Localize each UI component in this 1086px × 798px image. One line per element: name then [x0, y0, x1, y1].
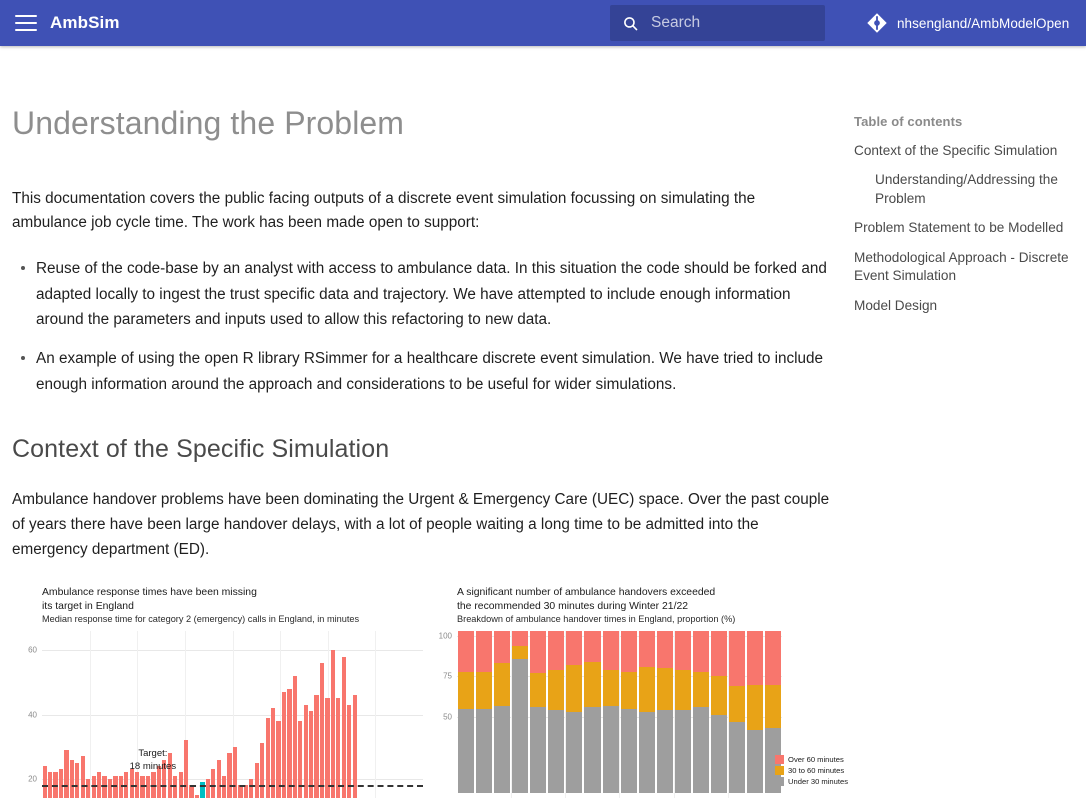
bar-segment: [675, 670, 691, 711]
bar: [331, 650, 335, 798]
target-line: [42, 785, 423, 787]
bar-segment: [476, 672, 492, 709]
stacked-bar: [548, 631, 564, 798]
stacked-bar: [494, 631, 510, 798]
repo-label: nhsengland/AmbModelOpen: [897, 16, 1069, 31]
bar-segment: [621, 631, 637, 672]
bar: [227, 753, 231, 798]
search-icon: [622, 15, 639, 32]
page-title: Understanding the Problem: [12, 103, 830, 145]
bar-segment: [494, 631, 510, 663]
bar-segment: [657, 631, 673, 668]
bar: [336, 698, 340, 798]
stacked-bar: [476, 631, 492, 798]
bar: [157, 766, 161, 798]
chart-handover-breakdown: A significant number of ambulance handov…: [427, 586, 842, 798]
search-input[interactable]: [651, 14, 811, 32]
bar-segment: [621, 672, 637, 709]
git-diamond-icon: [866, 12, 888, 34]
bar: [64, 750, 68, 798]
intro-bullet-list: Reuse of the code-base by an analyst wit…: [12, 256, 830, 397]
bar: [320, 663, 324, 798]
toc-label: Table of contents: [854, 114, 1072, 129]
y-axis-tick: 75: [443, 672, 452, 681]
bar-segment: [494, 663, 510, 705]
bar: [81, 756, 85, 798]
bar-segment: [765, 685, 781, 729]
stacked-bar: [657, 631, 673, 798]
stacked-bar: [458, 631, 474, 798]
chart-subtitle: Breakdown of ambulance handover times in…: [427, 614, 842, 625]
bar-segment: [693, 672, 709, 708]
bar: [233, 747, 237, 798]
bar: [130, 769, 134, 798]
y-axis-tick: 40: [28, 710, 37, 719]
bar-segment: [711, 715, 727, 793]
y-axis-tick: 20: [28, 774, 37, 783]
toc-item-understanding[interactable]: Understanding/Addressing the Problem: [854, 171, 1072, 208]
bar: [217, 760, 221, 798]
stacked-bar: [639, 631, 655, 798]
stacked-bar: [747, 631, 763, 798]
stacked-bar: [512, 631, 528, 798]
stacked-bar: [729, 631, 745, 798]
bar-segment: [530, 707, 546, 793]
stacked-bar: [603, 631, 619, 798]
bar-segment: [639, 631, 655, 667]
bar-segment: [729, 722, 745, 793]
bar: [347, 705, 351, 798]
bar: [260, 743, 264, 798]
bar: [314, 695, 318, 798]
bar-segment: [494, 706, 510, 794]
bar: [282, 692, 286, 798]
bar-segment: [512, 659, 528, 794]
charts-figure: Ambulance response times have been missi…: [12, 586, 842, 798]
bar: [86, 779, 90, 798]
plot-area-left: 204060Target: 18 minutes: [12, 631, 427, 798]
y-axis-tick: 50: [443, 712, 452, 721]
bar-segment: [512, 646, 528, 659]
bar: [43, 766, 47, 798]
bar-segment: [548, 710, 564, 793]
stacked-bar: [675, 631, 691, 798]
legend-swatch: [775, 766, 784, 775]
bar-segment: [566, 631, 582, 665]
bar-segment: [747, 730, 763, 793]
bar-segment: [693, 631, 709, 672]
stacked-bar-series: [457, 631, 782, 798]
bar-segment: [566, 665, 582, 712]
toc-item-methodological-approach[interactable]: Methodological Approach - Discrete Event…: [854, 249, 1072, 286]
bar-segment: [512, 631, 528, 646]
repo-link[interactable]: nhsengland/AmbModelOpen: [866, 0, 1069, 46]
toc-item-model-design[interactable]: Model Design: [854, 297, 1072, 315]
stacked-bar: [621, 631, 637, 798]
bar-segment: [693, 707, 709, 793]
section-title-context: Context of the Specific Simulation: [12, 435, 830, 464]
bar: [287, 689, 291, 798]
bar: [184, 740, 188, 798]
bar-segment: [675, 631, 691, 670]
bar: [75, 763, 79, 798]
bar-segment: [566, 712, 582, 793]
bar: [162, 760, 166, 798]
bar-segment: [476, 709, 492, 793]
bar-segment: [548, 631, 564, 670]
bar: [206, 779, 210, 798]
bar-segment: [711, 676, 727, 715]
y-axis-tick: 100: [439, 631, 452, 640]
legend-label: Over 60 minutes: [788, 755, 844, 764]
bar-segment: [584, 707, 600, 793]
bar-segment: [476, 631, 492, 672]
list-item: Reuse of the code-base by an analyst wit…: [36, 256, 830, 332]
stacked-bar: [693, 631, 709, 798]
table-of-contents: Table of contents Context of the Specifi…: [846, 103, 1072, 798]
bar: [168, 753, 172, 798]
toc-item-context[interactable]: Context of the Specific Simulation: [854, 142, 1072, 160]
bar-segment: [603, 631, 619, 670]
bar: [325, 698, 329, 798]
chart-response-times: Ambulance response times have been missi…: [12, 586, 427, 798]
legend-row: Under 30 minutes: [775, 777, 848, 786]
bar: [108, 779, 112, 798]
chart-title: Ambulance response times have been missi…: [12, 586, 427, 613]
legend-swatch: [775, 777, 784, 786]
bar-segment: [548, 670, 564, 711]
app-header: AmbSim nhsengland/AmbModelOpen: [0, 0, 1086, 46]
bar-segment: [584, 631, 600, 662]
chart-legend: Over 60 minutes30 to 60 minutesUnder 30 …: [775, 755, 848, 788]
bar-segment: [639, 667, 655, 712]
list-item: An example of using the open R library R…: [36, 346, 830, 397]
legend-row: Over 60 minutes: [775, 755, 848, 764]
section-paragraph: Ambulance handover problems have been do…: [12, 488, 830, 562]
bar-segment: [747, 631, 763, 685]
bar-segment: [729, 686, 745, 722]
stacked-bar: [711, 631, 727, 798]
intro-paragraph: This documentation covers the public fac…: [12, 187, 830, 237]
bar-segment: [765, 631, 781, 685]
bar: [293, 676, 297, 798]
bar-segment: [603, 670, 619, 706]
main-content: Understanding the Problem This documenta…: [0, 103, 846, 798]
bar-segment: [729, 631, 745, 686]
bar-segment: [747, 685, 763, 730]
y-axis-tick: 60: [28, 646, 37, 655]
bar: [249, 779, 253, 798]
bar-segment: [530, 673, 546, 707]
bar-segment: [603, 706, 619, 794]
right-plot-canvas: 5075100: [457, 631, 782, 798]
bar-segment: [584, 662, 600, 707]
bar-segment: [657, 710, 673, 793]
bar-segment: [458, 709, 474, 793]
toc-item-problem-statement[interactable]: Problem Statement to be Modelled: [854, 219, 1072, 237]
left-plot-canvas: 204060Target: 18 minutes: [42, 631, 423, 798]
bar-segment: [639, 712, 655, 793]
stacked-bar: [584, 631, 600, 798]
search-box[interactable]: [610, 5, 825, 41]
chart-title: A significant number of ambulance handov…: [427, 586, 842, 613]
bar: [59, 769, 63, 798]
bar-segment: [458, 672, 474, 709]
bar: [70, 760, 74, 798]
bar-series: [42, 631, 423, 798]
legend-swatch: [775, 755, 784, 764]
bar: [304, 705, 308, 798]
bar-segment: [657, 668, 673, 710]
bar: [353, 695, 357, 798]
bar: [342, 657, 346, 798]
bar-segment: [711, 631, 727, 676]
plot-area-right: 5075100 Over 60 minutes30 to 60 minutesU…: [427, 631, 842, 798]
bar-segment: [675, 710, 691, 793]
bar: [255, 763, 259, 798]
stacked-bar: [530, 631, 546, 798]
bar-segment: [458, 631, 474, 672]
bar: [211, 769, 215, 798]
site-title: AmbSim: [50, 13, 120, 33]
chart-subtitle: Median response time for category 2 (eme…: [12, 614, 427, 625]
bar-segment: [621, 709, 637, 793]
legend-row: 30 to 60 minutes: [775, 766, 848, 775]
page-body: Understanding the Problem This documenta…: [0, 46, 1086, 798]
legend-label: 30 to 60 minutes: [788, 766, 844, 775]
legend-label: Under 30 minutes: [788, 777, 848, 786]
hamburger-icon[interactable]: [15, 15, 37, 31]
stacked-bar: [566, 631, 582, 798]
bar-segment: [530, 631, 546, 673]
